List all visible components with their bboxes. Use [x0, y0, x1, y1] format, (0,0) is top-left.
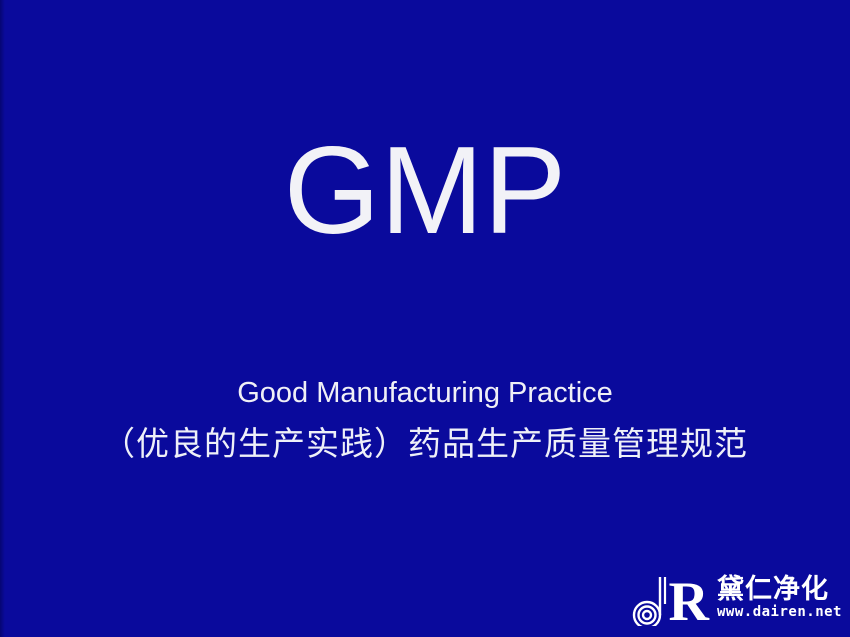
watermark-logo-mark: R — [629, 570, 709, 626]
page-title: GMP — [0, 129, 850, 253]
presentation-slide: GMP Good Manufacturing Practice （优良的生产实践… — [0, 0, 850, 637]
watermark-text-block: 黛仁净化 www.dairen.net — [717, 576, 842, 621]
watermark: R 黛仁净化 www.dairen.net — [629, 565, 842, 631]
subtitle-english: Good Manufacturing Practice — [0, 377, 850, 410]
subtitle-chinese: （优良的生产实践）药品生产质量管理规范 — [0, 424, 850, 464]
watermark-url: www.dairen.net — [717, 605, 842, 619]
title-block: GMP Good Manufacturing Practice （优良的生产实践… — [0, 0, 850, 637]
watermark-brand-name: 黛仁净化 — [717, 576, 829, 603]
watermark-letter-r: R — [669, 578, 709, 626]
spiral-d-icon — [629, 574, 671, 626]
